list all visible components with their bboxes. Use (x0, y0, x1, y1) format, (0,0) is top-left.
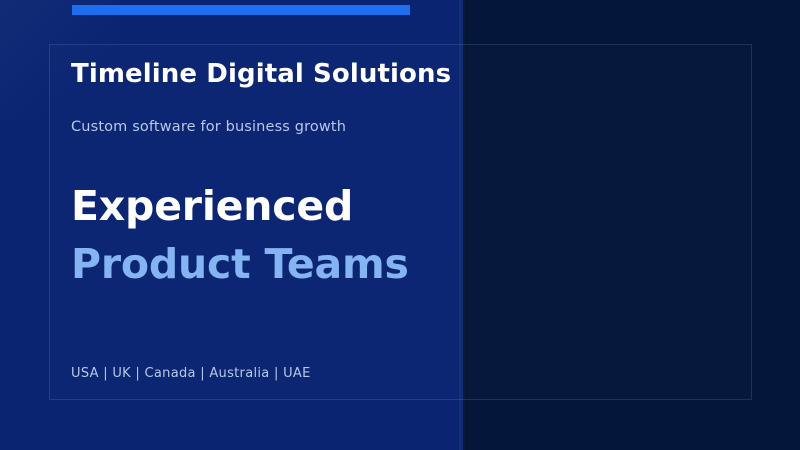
locations-list: USA | UK | Canada | Australia | UAE (71, 366, 311, 381)
slide-content: Timeline Digital Solutions Custom softwa… (71, 44, 671, 400)
brand-tagline: Custom software for business growth (71, 119, 346, 135)
page-title: Timeline Digital Solutions (71, 59, 451, 89)
presentation-slide: Timeline Digital Solutions Custom softwa… (0, 0, 800, 450)
headline-line-1: Experienced (71, 186, 353, 227)
headline-line-2: Product Teams (71, 244, 409, 285)
top-accent-bar (72, 5, 410, 15)
